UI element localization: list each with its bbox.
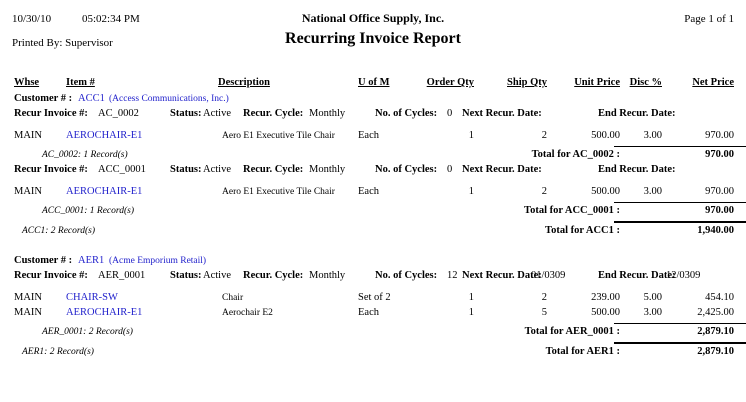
row-disc: 3.00 xyxy=(624,130,662,141)
invoice-total-label: Total for AER_0001 : xyxy=(440,326,620,337)
customer-name: (Access Communications, Inc.) xyxy=(109,94,229,105)
customer-total-value: 1,940.00 xyxy=(680,225,734,236)
row-description: Aero E1 Executive Tile Chair xyxy=(222,131,335,142)
column-header-disc-pct: Disc % xyxy=(624,77,662,88)
recur-invoice-number: AC_0002 xyxy=(98,108,139,119)
row-ship-qty: 2 xyxy=(500,130,547,141)
row-uofm: Each xyxy=(358,307,379,318)
end-recur-date-label: End Recur. Date: xyxy=(598,108,675,119)
no-of-cycles-value: 12 xyxy=(447,270,458,281)
recur-invoice-label: Recur Invoice #: xyxy=(14,164,88,175)
customer-label: Customer # : xyxy=(14,255,72,266)
row-disc: 5.00 xyxy=(624,292,662,303)
row-order-qty: 1 xyxy=(424,307,474,318)
row-net-price: 454.10 xyxy=(680,292,734,303)
row-whse: MAIN xyxy=(14,186,42,197)
end-recur-date-label: End Recur. Date: xyxy=(598,270,675,281)
customer-code-link[interactable]: ACC1 xyxy=(78,93,105,104)
column-header-uofm: U of M xyxy=(358,77,390,88)
next-recur-date-label: Next Recur. Date: xyxy=(462,270,542,281)
row-ship-qty: 2 xyxy=(500,292,547,303)
status-label: Status: xyxy=(170,270,202,281)
column-header-net-price: Net Price xyxy=(680,77,734,88)
column-header-ship-qty: Ship Qty xyxy=(500,77,547,88)
customer-total-label: Total for ACC1 : xyxy=(440,225,620,236)
end-recur-date-value: 12/0309 xyxy=(666,270,700,281)
status-value: Active xyxy=(203,270,231,281)
row-ship-qty: 2 xyxy=(500,186,547,197)
row-unit-price: 500.00 xyxy=(570,307,620,318)
page-number: Page 1 of 1 xyxy=(0,14,734,25)
no-of-cycles-label: No. of Cycles: xyxy=(375,164,437,175)
status-label: Status: xyxy=(170,108,202,119)
row-net-price: 970.00 xyxy=(680,130,734,141)
recur-invoice-label: Recur Invoice #: xyxy=(14,108,88,119)
no-of-cycles-label: No. of Cycles: xyxy=(375,108,437,119)
customer-total-label: Total for AER1 : xyxy=(440,346,620,357)
column-header-item: Item # xyxy=(66,77,95,88)
row-whse: MAIN xyxy=(14,130,42,141)
row-item-link[interactable]: AEROCHAIR-E1 xyxy=(66,307,142,318)
column-header-whse: Whse xyxy=(14,77,39,88)
report-page: 10/30/10 05:02:34 PM National Office Sup… xyxy=(0,0,746,402)
row-net-price: 2,425.00 xyxy=(680,307,734,318)
column-header-unit-price: Unit Price xyxy=(570,77,620,88)
row-unit-price: 239.00 xyxy=(570,292,620,303)
row-unit-price: 500.00 xyxy=(570,130,620,141)
customer-code-link[interactable]: AER1 xyxy=(78,255,104,266)
invoice-total-value: 970.00 xyxy=(680,149,734,160)
recur-cycle-value: Monthly xyxy=(309,108,345,119)
end-recur-date-label: End Recur. Date: xyxy=(598,164,675,175)
row-order-qty: 1 xyxy=(424,130,474,141)
row-disc: 3.00 xyxy=(624,186,662,197)
row-whse: MAIN xyxy=(14,307,42,318)
row-net-price: 970.00 xyxy=(680,186,734,197)
row-ship-qty: 5 xyxy=(500,307,547,318)
page-title: Recurring Invoice Report xyxy=(0,33,746,44)
next-recur-date-label: Next Recur. Date: xyxy=(462,108,542,119)
no-of-cycles-label: No. of Cycles: xyxy=(375,270,437,281)
row-item-link[interactable]: CHAIR-SW xyxy=(66,292,118,303)
total-separator-rule xyxy=(614,202,746,203)
row-unit-price: 500.00 xyxy=(570,186,620,197)
recur-invoice-label: Recur Invoice #: xyxy=(14,270,88,281)
row-disc: 3.00 xyxy=(624,307,662,318)
total-separator-rule xyxy=(614,221,746,223)
row-uofm: Each xyxy=(358,130,379,141)
status-label: Status: xyxy=(170,164,202,175)
row-description: Aero E1 Executive Tile Chair xyxy=(222,187,335,198)
invoice-record-count: AER_0001: 2 Record(s) xyxy=(42,327,133,338)
recur-cycle-label: Recur. Cycle: xyxy=(243,108,303,119)
total-separator-rule xyxy=(614,146,746,147)
invoice-total-label: Total for AC_0002 : xyxy=(440,149,620,160)
customer-record-count: ACC1: 2 Record(s) xyxy=(22,226,95,237)
recur-invoice-number: AER_0001 xyxy=(98,270,145,281)
row-whse: MAIN xyxy=(14,292,42,303)
recur-cycle-label: Recur. Cycle: xyxy=(243,270,303,281)
recur-cycle-label: Recur. Cycle: xyxy=(243,164,303,175)
column-header-order-qty: Order Qty xyxy=(424,77,474,88)
customer-record-count: AER1: 2 Record(s) xyxy=(22,347,94,358)
total-separator-rule xyxy=(614,323,746,324)
status-value: Active xyxy=(203,164,231,175)
recur-cycle-value: Monthly xyxy=(309,270,345,281)
no-of-cycles-value: 0 xyxy=(447,164,452,175)
no-of-cycles-value: 0 xyxy=(447,108,452,119)
invoice-total-label: Total for ACC_0001 : xyxy=(440,205,620,216)
column-header-description: Description xyxy=(218,77,270,88)
customer-label: Customer # : xyxy=(14,93,72,104)
status-value: Active xyxy=(203,108,231,119)
row-uofm: Set of 2 xyxy=(358,292,391,303)
total-separator-rule xyxy=(614,342,746,344)
invoice-record-count: ACC_0001: 1 Record(s) xyxy=(42,206,134,217)
row-description: Aerochair E2 xyxy=(222,308,273,319)
row-order-qty: 1 xyxy=(424,186,474,197)
recur-cycle-value: Monthly xyxy=(309,164,345,175)
row-uofm: Each xyxy=(358,186,379,197)
customer-total-value: 2,879.10 xyxy=(680,346,734,357)
invoice-total-value: 2,879.10 xyxy=(680,326,734,337)
next-recur-date-value: 01/0309 xyxy=(531,270,565,281)
row-item-link[interactable]: AEROCHAIR-E1 xyxy=(66,186,142,197)
customer-name: (Acme Emporium Retail) xyxy=(109,256,206,267)
invoice-total-value: 970.00 xyxy=(680,205,734,216)
recur-invoice-number: ACC_0001 xyxy=(98,164,146,175)
row-description: Chair xyxy=(222,293,243,304)
row-item-link[interactable]: AEROCHAIR-E1 xyxy=(66,130,142,141)
next-recur-date-label: Next Recur. Date: xyxy=(462,164,542,175)
row-order-qty: 1 xyxy=(424,292,474,303)
invoice-record-count: AC_0002: 1 Record(s) xyxy=(42,150,128,161)
